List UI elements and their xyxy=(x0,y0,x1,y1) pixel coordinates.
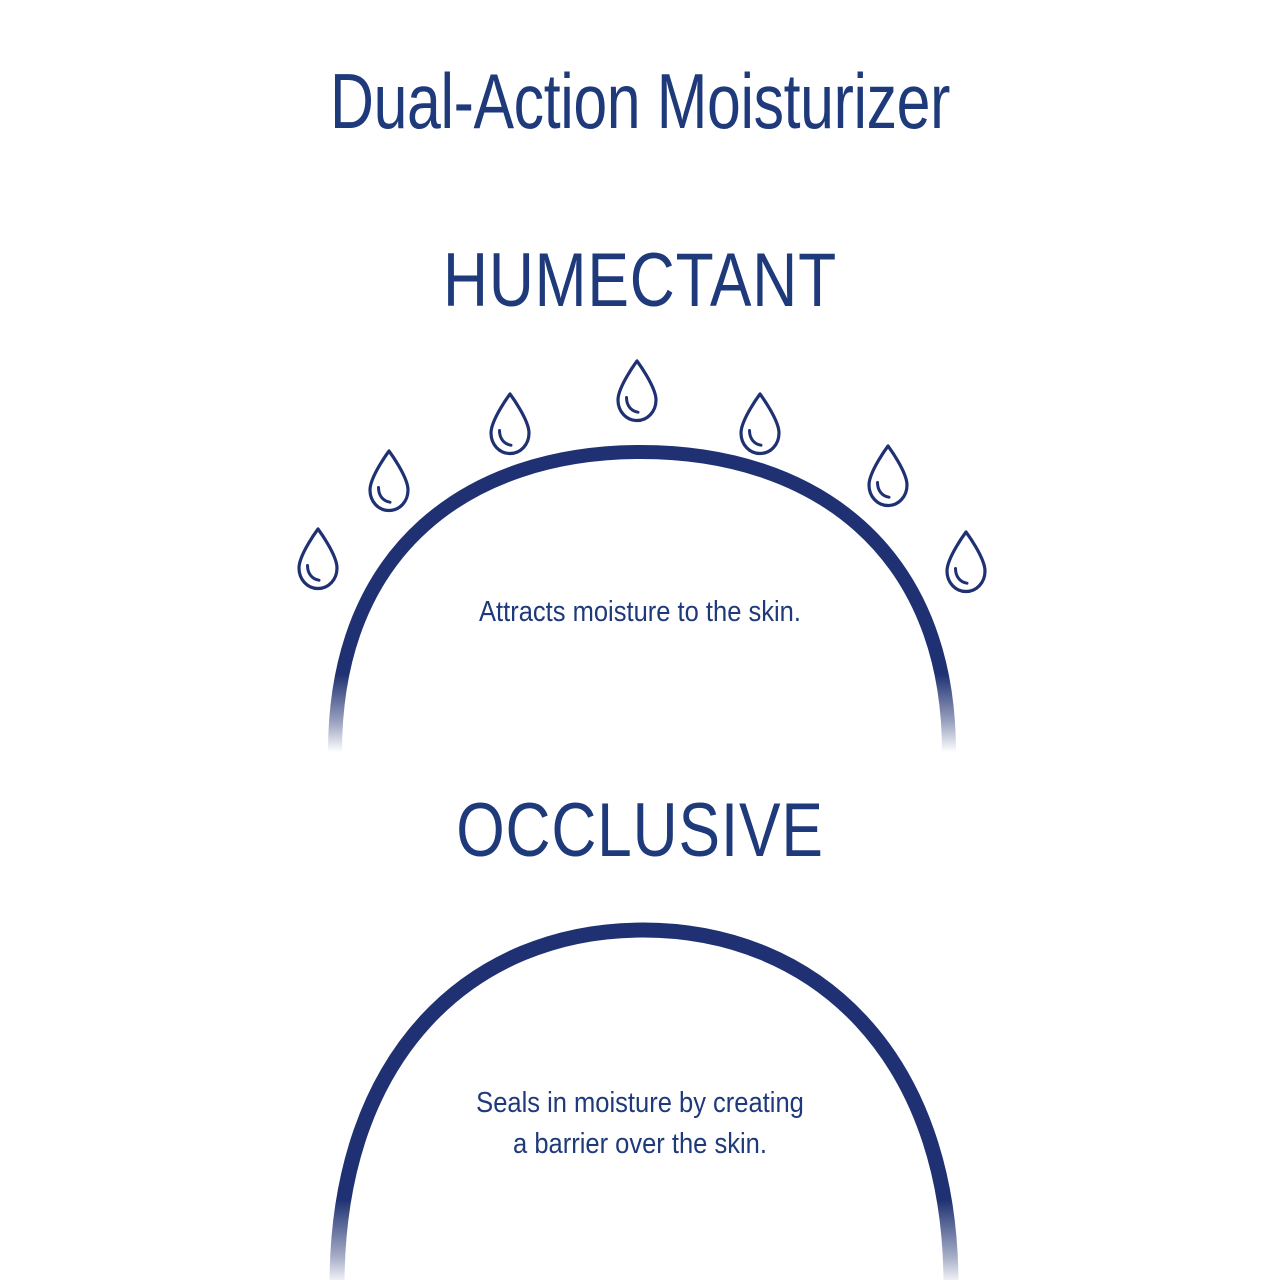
water-droplet-icon xyxy=(299,529,337,589)
infographic-canvas: Dual-Action Moisturizer HUMECTANT xyxy=(0,0,1280,1280)
caption-line: Seals in moisture by creating xyxy=(77,1083,1203,1124)
water-droplet-icon xyxy=(370,451,408,511)
water-droplet-icon xyxy=(947,532,985,592)
caption-line: a barrier over the skin. xyxy=(77,1124,1203,1165)
section-heading-humectant: HUMECTANT xyxy=(115,240,1165,322)
caption-line: Attracts moisture to the skin. xyxy=(77,592,1203,633)
section-caption-humectant: Attracts moisture to the skin. xyxy=(77,592,1203,633)
page-title: Dual-Action Moisturizer xyxy=(141,58,1139,144)
water-droplet-icon xyxy=(491,394,529,454)
section-heading-occlusive: OCCLUSIVE xyxy=(115,790,1165,872)
water-droplet-group xyxy=(299,361,985,592)
section-caption-occlusive: Seals in moisture by creating a barrier … xyxy=(77,1083,1203,1165)
water-droplet-icon xyxy=(869,446,907,506)
water-droplet-icon xyxy=(741,394,779,454)
water-droplet-icon xyxy=(618,361,656,421)
